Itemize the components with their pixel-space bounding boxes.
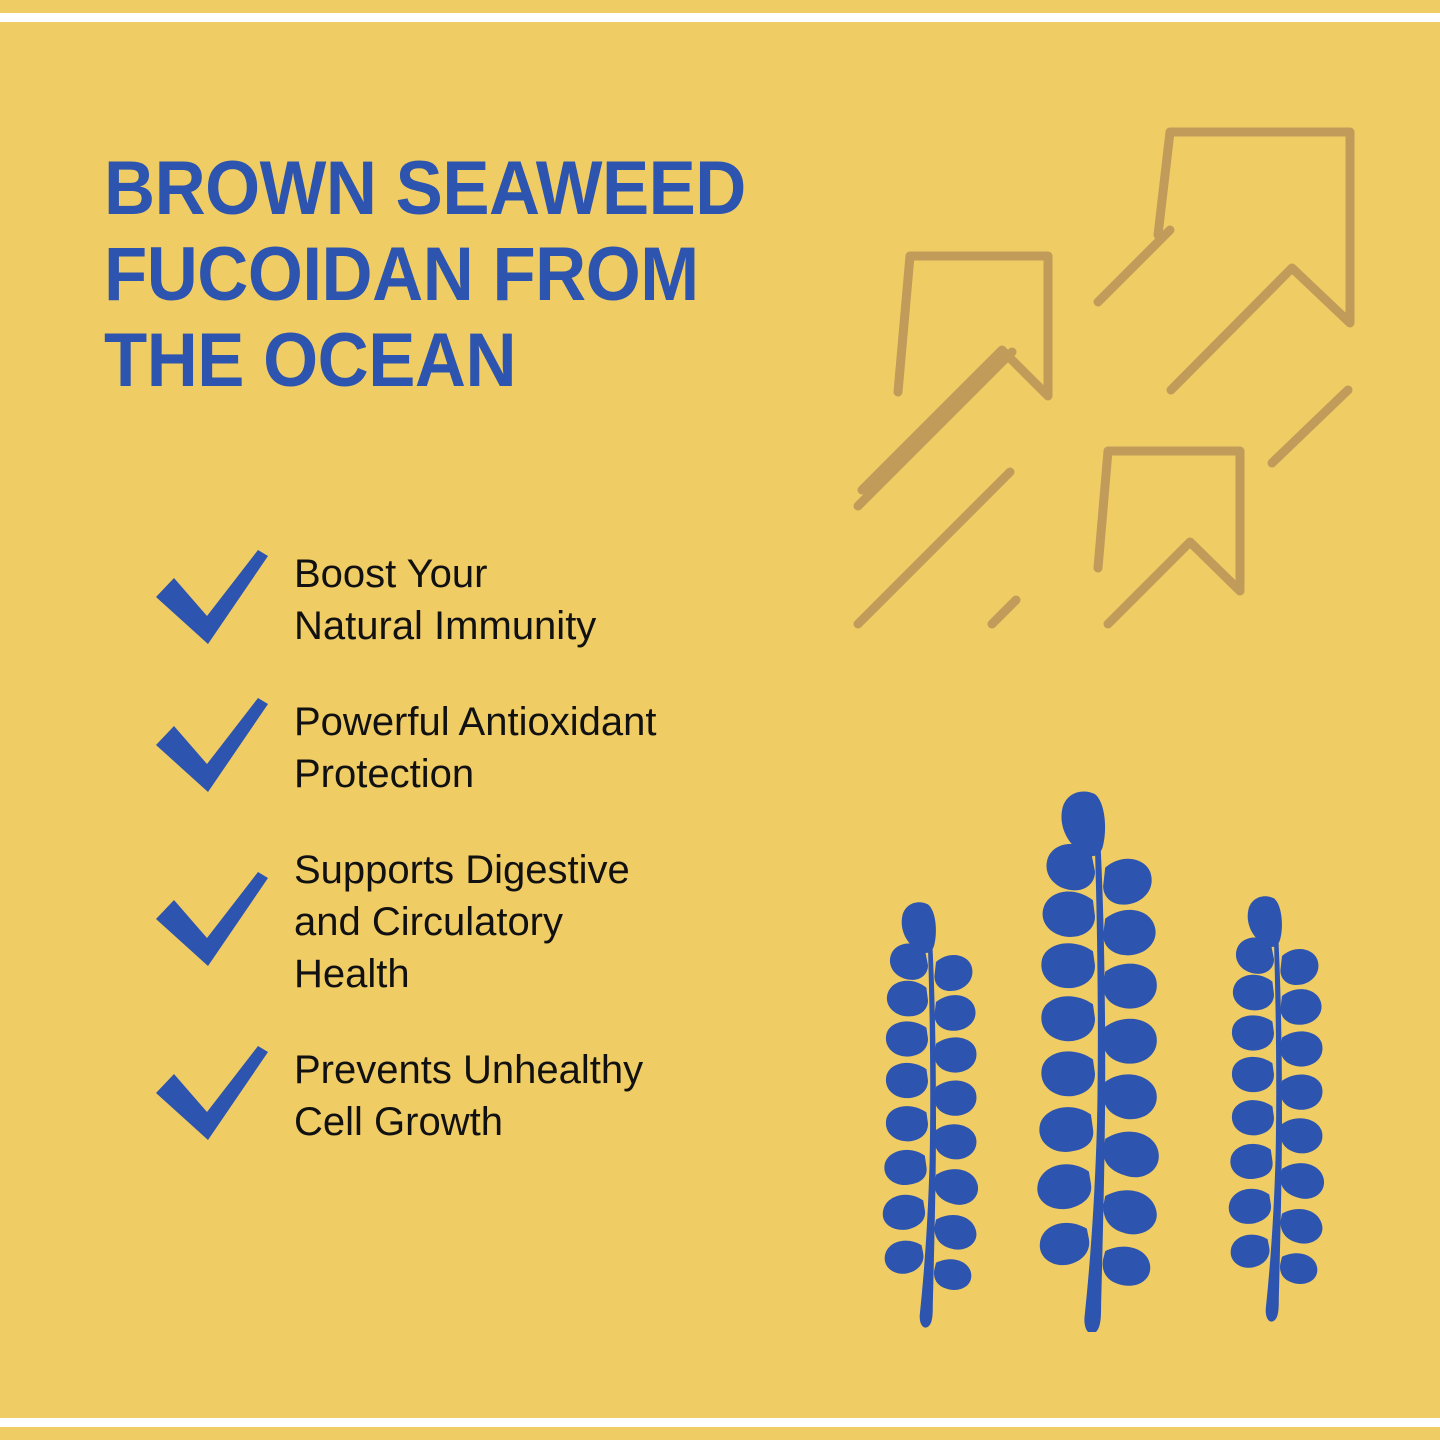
list-item-label: Powerful Antioxidant Protection [280,696,850,800]
growth-arrows-illustration [840,118,1380,648]
list-item-label: Boost Your Natural Immunity [280,548,850,652]
page-title: BROWN SEAWEED FUCOIDAN FROM THE OCEAN [104,146,792,404]
list-item-label: Prevents Unhealthy Cell Growth [280,1044,850,1148]
benefits-list: Boost Your Natural Immunity Powerful Ant… [150,548,850,1148]
seaweed-frond-left [883,902,978,1327]
list-item: Boost Your Natural Immunity [150,548,850,652]
check-icon [150,870,280,974]
check-icon [150,696,280,800]
main-panel: BROWN SEAWEED FUCOIDAN FROM THE OCEAN [0,22,1440,1418]
seaweed-frond-center [1037,791,1159,1332]
check-icon [150,548,280,652]
list-item: Prevents Unhealthy Cell Growth [150,1044,850,1148]
bottom-edge-sliver [0,1427,1440,1440]
list-item-label: Supports Digestive and Circulatory Healt… [280,844,850,1000]
list-item: Supports Digestive and Circulatory Healt… [150,844,850,1000]
list-item: Powerful Antioxidant Protection [150,696,850,800]
seaweed-frond-right [1229,896,1324,1321]
seaweed-fronds-illustration [872,780,1392,1332]
check-icon [150,1044,280,1148]
poster-canvas: BROWN SEAWEED FUCOIDAN FROM THE OCEAN [0,0,1440,1440]
top-edge-sliver [0,0,1440,13]
